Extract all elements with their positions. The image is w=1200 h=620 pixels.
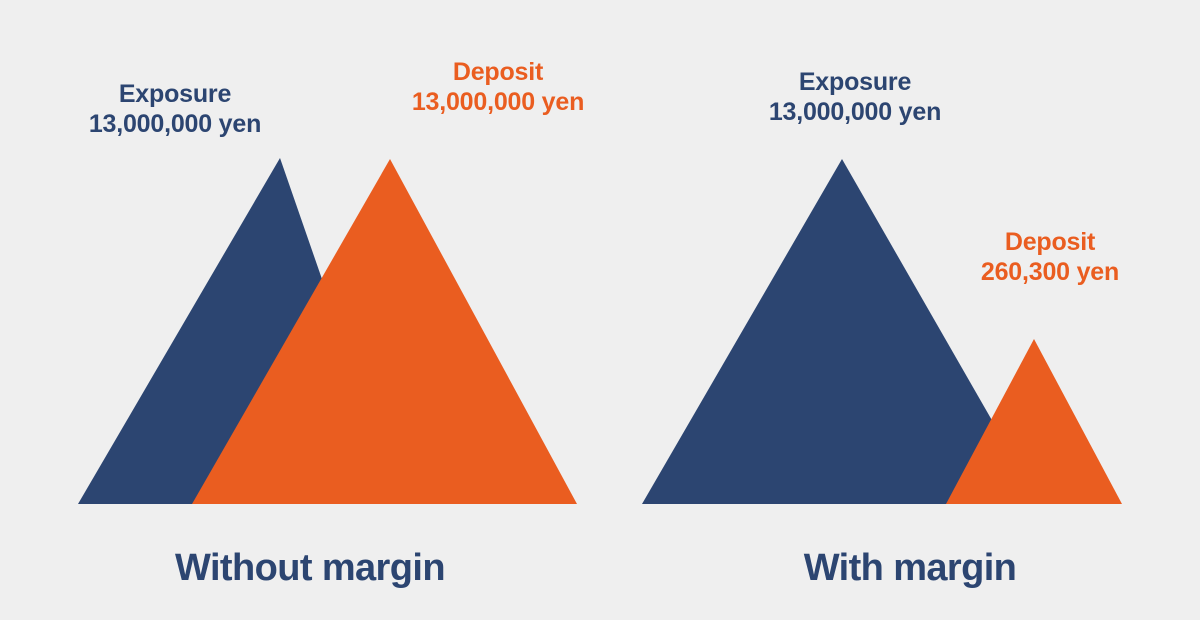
label-exposure-title: Exposure [730, 68, 980, 98]
label-deposit-with-margin: Deposit 260,300 yen [935, 228, 1165, 287]
label-deposit-title: Deposit [935, 228, 1165, 258]
label-exposure-value: 13,000,000 yen [730, 98, 980, 128]
label-exposure-value: 13,000,000 yen [50, 110, 300, 140]
infographic-canvas: Exposure 13,000,000 yen Deposit 13,000,0… [0, 0, 1200, 620]
label-deposit-value: 260,300 yen [935, 258, 1165, 288]
label-deposit-without-margin: Deposit 13,000,000 yen [378, 58, 618, 117]
label-exposure-title: Exposure [50, 80, 300, 110]
label-exposure-with-margin: Exposure 13,000,000 yen [730, 68, 980, 127]
label-deposit-title: Deposit [378, 58, 618, 88]
panel-with-margin: Exposure 13,000,000 yen Deposit 260,300 … [620, 0, 1200, 620]
caption-with-margin: With margin [620, 547, 1200, 590]
caption-without-margin: Without margin [0, 547, 620, 590]
label-deposit-value: 13,000,000 yen [378, 88, 618, 118]
panel-without-margin: Exposure 13,000,000 yen Deposit 13,000,0… [0, 0, 620, 620]
label-exposure-without-margin: Exposure 13,000,000 yen [50, 80, 300, 139]
